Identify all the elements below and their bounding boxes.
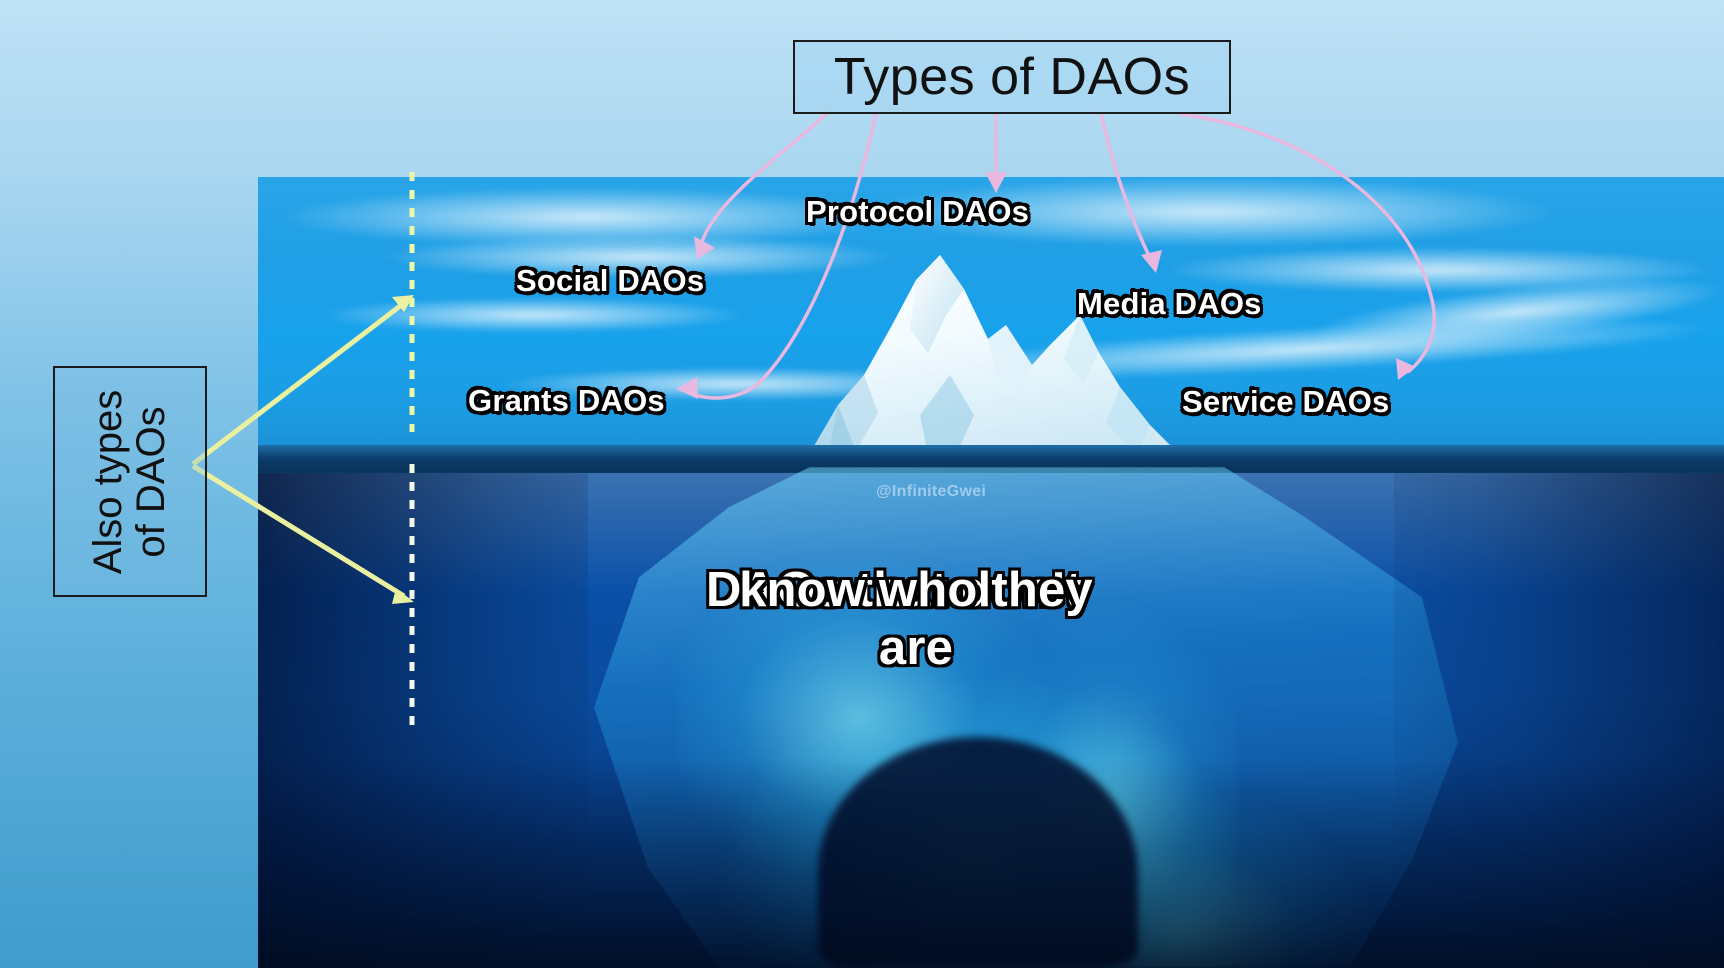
side-box-line-2: of DAOs [130,389,173,574]
label-social-daos: Social DAOs [516,263,704,299]
label-underwater-daos: DAOs that don’t know who they are [706,562,1126,678]
label-grants-daos: Grants DAOs [468,383,665,419]
watermark: @InfiniteGwei [876,483,986,501]
label-service-daos: Service DAOs [1182,384,1389,420]
title-box[interactable]: Types of DAOs [793,40,1231,114]
side-box-label: Also types of DAOs [87,389,173,574]
underwater-line-2: know who they [706,562,1126,620]
title-box-label: Types of DAOs [834,47,1190,107]
label-protocol-daos: Protocol DAOs [806,194,1029,230]
label-media-daos: Media DAOs [1077,286,1262,322]
underwater-line-3: are [706,620,1126,678]
side-box-line-1: Also types [87,389,130,574]
side-box[interactable]: Also types of DAOs [53,366,207,597]
slide-canvas: Social DAOs Protocol DAOs Media DAOs Gra… [0,0,1724,968]
